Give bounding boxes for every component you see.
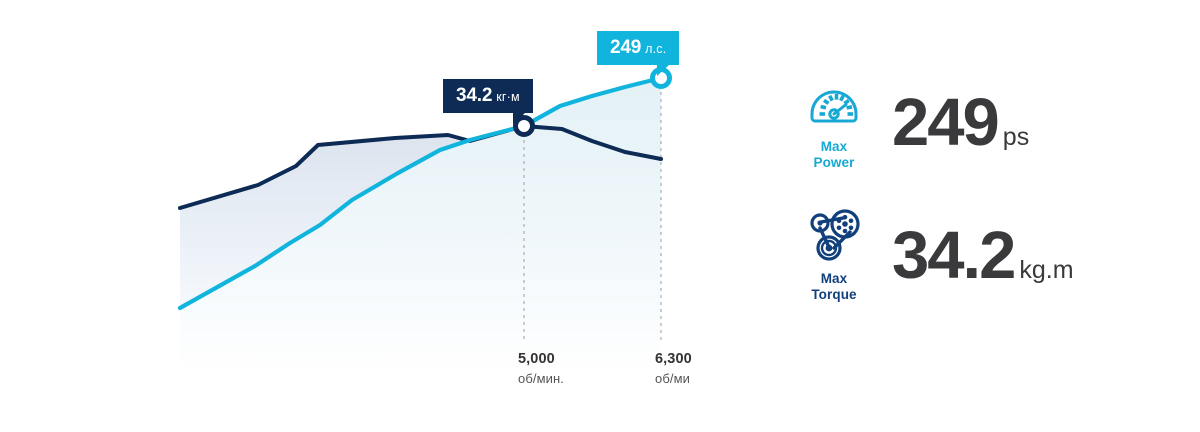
- max-torque-icon-block: Max Torque: [788, 208, 880, 302]
- spec-row-max-power: Max Power 249 ps: [788, 74, 1029, 170]
- power-callout-tail: [657, 65, 669, 76]
- belt-pulley-icon: [805, 208, 863, 264]
- max-power-unit: ps: [1003, 125, 1029, 150]
- max-torque-unit: kg.m: [1019, 258, 1073, 283]
- max-torque-caption-line1: Max: [821, 271, 848, 286]
- max-torque-caption: Max Torque: [811, 271, 856, 302]
- power-callout-value: 249: [610, 38, 641, 57]
- max-power-caption-line2: Power: [813, 155, 854, 170]
- engine-performance-infographic: 34.2 кг·м 249 л.с. 5,000 об/мин. 6,300 о…: [0, 0, 1200, 432]
- performance-chart: 34.2 кг·м 249 л.с. 5,000 об/мин. 6,300 о…: [0, 0, 760, 432]
- max-power-caption-line1: Max: [821, 139, 848, 154]
- torque-callout-value: 34.2: [456, 86, 492, 105]
- max-torque-value: 34.2: [892, 222, 1014, 289]
- torque-callout: 34.2 кг·м: [443, 79, 533, 113]
- power-callout: 249 л.с.: [597, 31, 679, 65]
- torque-callout-unit: кг·м: [496, 91, 520, 104]
- max-power-value: 249: [892, 89, 998, 156]
- torque-callout-tail: [513, 113, 525, 124]
- power-callout-unit: л.с.: [645, 43, 666, 56]
- axis-label-5000-unit: об/мин.: [518, 371, 564, 387]
- axis-label-6300-unit: об/ми: [655, 371, 703, 387]
- max-power-value-block: 249 ps: [892, 89, 1029, 156]
- max-power-icon-block: Max Power: [788, 74, 880, 170]
- axis-label-6300-rpm: 6,300: [655, 351, 692, 367]
- axis-label-5000: 5,000 об/мин.: [518, 349, 564, 387]
- spec-panel: Max Power 249 ps: [780, 0, 1200, 432]
- max-torque-value-block: 34.2 kg.m: [892, 222, 1074, 289]
- speedometer-gauge-icon: [805, 74, 863, 132]
- max-torque-caption-line2: Torque: [811, 287, 856, 302]
- max-power-caption: Max Power: [813, 139, 854, 170]
- spec-row-max-torque: Max Torque 34.2 kg.m: [788, 208, 1074, 302]
- axis-label-5000-rpm: 5,000: [518, 351, 555, 367]
- axis-label-6300: 6,300 об/ми: [655, 349, 703, 387]
